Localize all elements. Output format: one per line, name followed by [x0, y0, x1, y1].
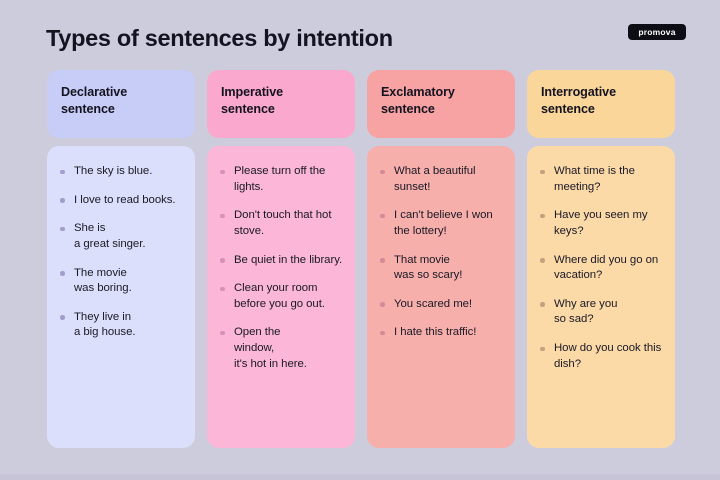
- card-header-imperative[interactable]: Imperativesentence: [207, 70, 355, 138]
- list-item: Have you seen my keys?: [539, 208, 663, 239]
- bullet-dot-icon: [540, 214, 545, 219]
- bullet-dot-icon: [60, 271, 65, 276]
- list-item: Why are youso sad?: [539, 297, 663, 328]
- list-item: I hate this traffic!: [379, 325, 503, 341]
- list-item-label: She isa great singer.: [74, 222, 145, 250]
- list-item: That moviewas so scary!: [379, 253, 503, 284]
- logo-text: promova: [638, 28, 675, 37]
- list-item: They live ina big house.: [59, 310, 183, 341]
- list-item-label: The sky is blue.: [74, 165, 152, 177]
- list-item-label: Where did you go on vacation?: [554, 254, 658, 282]
- list-item-label: What a beautiful sunset!: [394, 165, 476, 193]
- list-item: Open thewindow,it's hot in here.: [219, 325, 343, 372]
- bullet-dot-icon: [540, 170, 545, 175]
- card-body-exclamatory: What a beautiful sunset!I can't believe …: [367, 146, 515, 448]
- card-header-title-imperative: Imperativesentence: [221, 84, 341, 117]
- card-header-declarative[interactable]: Declarativesentence: [47, 70, 195, 138]
- list-item: Clean your room before you go out.: [219, 281, 343, 312]
- bullet-dot-icon: [380, 214, 385, 219]
- infographic-canvas: Types of sentences by intention promova …: [0, 0, 720, 480]
- list-item-label: Don't touch that hot stove.: [234, 209, 331, 237]
- list-item-label: That moviewas so scary!: [394, 254, 462, 282]
- list-item: Where did you go on vacation?: [539, 253, 663, 284]
- bullet-dot-icon: [540, 302, 545, 307]
- bullet-dot-icon: [60, 198, 65, 203]
- bullet-dot-icon: [380, 170, 385, 175]
- page-title: Types of sentences by intention: [46, 25, 393, 52]
- list-item-label: Have you seen my keys?: [554, 209, 648, 237]
- list-item: What a beautiful sunset!: [379, 164, 503, 195]
- bullet-dot-icon: [380, 258, 385, 263]
- column-interrogative: InterrogativesentenceWhat time is the me…: [527, 70, 675, 448]
- list-item: How do you cook this dish?: [539, 341, 663, 372]
- list-item-label: I love to read books.: [74, 194, 176, 206]
- bullet-dot-icon: [220, 331, 225, 336]
- promova-logo-badge: promova: [628, 24, 686, 40]
- list-item: Be quiet in the library.: [219, 253, 343, 269]
- bottom-edge: [0, 474, 720, 480]
- list-item-label: How do you cook this dish?: [554, 342, 661, 370]
- card-header-interrogative[interactable]: Interrogativesentence: [527, 70, 675, 138]
- sentence-type-columns: DeclarativesentenceThe sky is blue.I lov…: [47, 70, 675, 448]
- bullet-dot-icon: [540, 347, 545, 352]
- card-body-declarative: The sky is blue.I love to read books.She…: [47, 146, 195, 448]
- list-item: She isa great singer.: [59, 221, 183, 252]
- example-list-exclamatory: What a beautiful sunset!I can't believe …: [379, 164, 503, 341]
- bullet-dot-icon: [60, 227, 65, 232]
- example-list-interrogative: What time is the meeting?Have you seen m…: [539, 164, 663, 372]
- bullet-dot-icon: [60, 170, 65, 175]
- example-list-declarative: The sky is blue.I love to read books.She…: [59, 164, 183, 341]
- list-item-label: They live ina big house.: [74, 311, 135, 339]
- bullet-dot-icon: [220, 170, 225, 175]
- list-item-label: What time is the meeting?: [554, 165, 635, 193]
- bullet-dot-icon: [540, 258, 545, 263]
- list-item: I can't believe I won the lottery!: [379, 208, 503, 239]
- example-list-imperative: Please turn off the lights.Don't touch t…: [219, 164, 343, 372]
- list-item-label: Why are youso sad?: [554, 298, 617, 326]
- list-item: What time is the meeting?: [539, 164, 663, 195]
- list-item-label: I hate this traffic!: [394, 326, 476, 338]
- card-header-title-declarative: Declarativesentence: [61, 84, 181, 117]
- list-item: You scared me!: [379, 297, 503, 313]
- list-item: Don't touch that hot stove.: [219, 208, 343, 239]
- list-item: The sky is blue.: [59, 164, 183, 180]
- bullet-dot-icon: [220, 258, 225, 263]
- column-exclamatory: ExclamatorysentenceWhat a beautiful suns…: [367, 70, 515, 448]
- card-header-exclamatory[interactable]: Exclamatorysentence: [367, 70, 515, 138]
- card-body-interrogative: What time is the meeting?Have you seen m…: [527, 146, 675, 448]
- column-imperative: ImperativesentencePlease turn off the li…: [207, 70, 355, 448]
- list-item-label: Open thewindow,it's hot in here.: [234, 326, 307, 369]
- list-item: The moviewas boring.: [59, 266, 183, 297]
- bullet-dot-icon: [220, 214, 225, 219]
- bullet-dot-icon: [380, 302, 385, 307]
- bullet-dot-icon: [220, 287, 225, 292]
- list-item-label: You scared me!: [394, 298, 472, 310]
- column-declarative: DeclarativesentenceThe sky is blue.I lov…: [47, 70, 195, 448]
- card-body-imperative: Please turn off the lights.Don't touch t…: [207, 146, 355, 448]
- list-item: I love to read books.: [59, 193, 183, 209]
- list-item-label: Please turn off the lights.: [234, 165, 325, 193]
- card-header-title-exclamatory: Exclamatorysentence: [381, 84, 501, 117]
- list-item-label: The moviewas boring.: [74, 267, 132, 295]
- bullet-dot-icon: [380, 331, 385, 336]
- list-item-label: Be quiet in the library.: [234, 254, 342, 266]
- header-bar: Types of sentences by intention promova: [0, 0, 720, 62]
- list-item-label: I can't believe I won the lottery!: [394, 209, 493, 237]
- card-header-title-interrogative: Interrogativesentence: [541, 84, 661, 117]
- list-item-label: Clean your room before you go out.: [234, 282, 325, 310]
- list-item: Please turn off the lights.: [219, 164, 343, 195]
- bullet-dot-icon: [60, 315, 65, 320]
